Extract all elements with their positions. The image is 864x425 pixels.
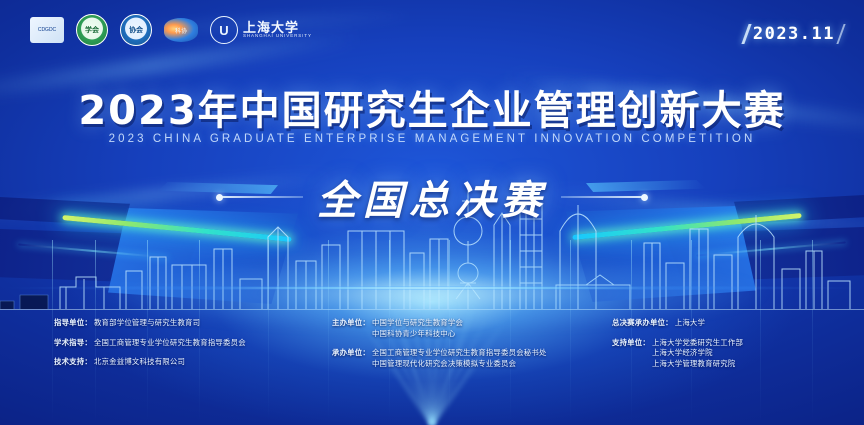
shanghai-university-mark: U (210, 16, 238, 44)
credit-value: 教育部学位管理与研究生教育司 (94, 318, 200, 329)
shanghai-university-logo: U 上海大学 SHANGHAI UNIVERSITY (210, 16, 312, 44)
final-round-title: 全国总决赛 (317, 168, 547, 226)
credit-label: 支持单位： (612, 338, 650, 370)
credit-entry: 技术支持： 北京金益博文科技有限公司 (54, 357, 354, 368)
credit-value: 北京金益博文科技有限公司 (94, 357, 185, 368)
credit-label: 承办单位： (332, 348, 370, 369)
shanghai-university-name-cn: 上海大学 (243, 21, 312, 35)
credit-entry: 支持单位： 上海大学党委研究生工作部 上海大学经济学院 上海大学管理教育研究院 (612, 338, 862, 370)
credits-column-left: 指导单位： 教育部学位管理与研究生教育司 学术指导： 全国工商管理专业学位研究生… (54, 318, 354, 377)
credit-entry: 指导单位： 教育部学位管理与研究生教育司 (54, 318, 354, 329)
credit-entry: 承办单位： 全国工商管理专业学位研究生教育指导委员会秘书处 中国管理现代化研究会… (332, 348, 622, 369)
blue-emblem-mark: 协会 (120, 14, 152, 46)
date-badge: 2023.11 (745, 24, 842, 44)
page-subtitle-english: 2023 CHINA GRADUATE ENTERPRISE MANAGEMEN… (0, 133, 864, 145)
shanghai-university-name-en: SHANGHAI UNIVERSITY (243, 34, 312, 39)
credit-value: 上海大学 (675, 318, 705, 329)
swirl-emblem-mark: 科协 (164, 18, 198, 42)
credits-column-middle: 主办单位： 中国学位与研究生教育学会 中国科协青少年科技中心 承办单位： 全国工… (332, 318, 622, 379)
credit-value: 上海大学管理教育研究院 (652, 359, 743, 370)
poster-canvas: CDGDC 学会 协会 科协 U 上海大学 SHANGHAI UNIVERSIT… (0, 0, 864, 425)
sponsor-logo-row: CDGDC 学会 协会 科协 U 上海大学 SHANGHAI UNIVERSIT… (30, 14, 312, 46)
credit-value: 中国管理现代化研究会决策模拟专业委员会 (372, 359, 547, 370)
green-circular-emblem-logo: 学会 (76, 14, 108, 46)
credit-value: 中国科协青少年科技中心 (372, 329, 463, 340)
credit-label: 指导单位： (54, 318, 92, 329)
credit-value: 中国学位与研究生教育学会 (372, 318, 463, 329)
blue-circular-emblem-logo: 协会 (120, 14, 152, 46)
credit-value: 上海大学党委研究生工作部 (652, 338, 743, 349)
decorative-line-right (561, 196, 645, 198)
credit-label: 学术指导： (54, 338, 92, 349)
credit-label: 总决赛承办单位： (612, 318, 673, 329)
final-round-banner: 全国总决赛 (0, 168, 864, 226)
credit-entry: 主办单位： 中国学位与研究生教育学会 中国科协青少年科技中心 (332, 318, 622, 339)
line-dot-right (641, 194, 648, 201)
credit-value: 全国工商管理专业学位研究生教育指导委员会 (94, 338, 246, 349)
date-badge-text: 2023.11 (753, 24, 835, 44)
swirl-emblem-logo: 科协 (164, 18, 198, 42)
credit-entry: 总决赛承办单位： 上海大学 (612, 318, 862, 329)
line-dot-left (216, 194, 223, 201)
page-title: 2023年中国研究生企业管理创新大赛 (0, 78, 864, 136)
credit-label: 主办单位： (332, 318, 370, 339)
green-emblem-mark: 学会 (76, 14, 108, 46)
credit-entry: 学术指导： 全国工商管理专业学位研究生教育指导委员会 (54, 338, 354, 349)
credit-value: 全国工商管理专业学位研究生教育指导委员会秘书处 (372, 348, 547, 359)
cdgdc-logo-mark: CDGDC (30, 17, 64, 43)
credit-value: 上海大学经济学院 (652, 348, 743, 359)
decorative-line-left (219, 196, 303, 198)
credits-column-right: 总决赛承办单位： 上海大学 支持单位： 上海大学党委研究生工作部 上海大学经济学… (612, 318, 862, 379)
credit-label: 技术支持： (54, 357, 92, 368)
credits-section: 指导单位： 教育部学位管理与研究生教育司 学术指导： 全国工商管理专业学位研究生… (0, 318, 864, 414)
cdgdc-logo: CDGDC (30, 17, 64, 43)
